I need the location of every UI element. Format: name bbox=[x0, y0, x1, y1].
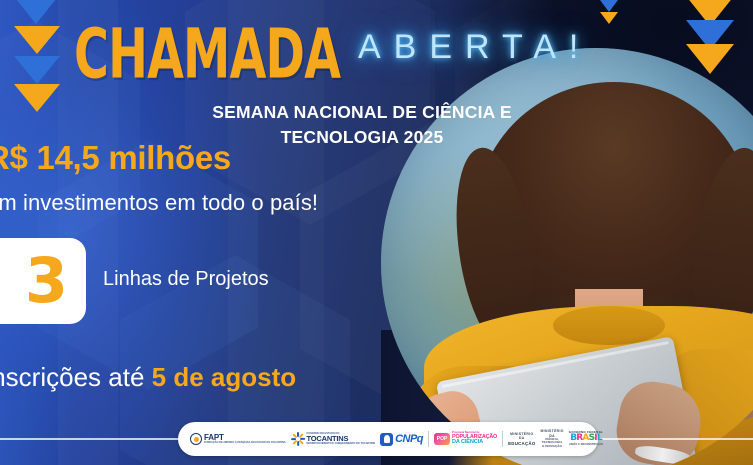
gf-underline: UNIÃO E RECONSTRUÇÃO bbox=[569, 444, 603, 447]
footer-divider bbox=[428, 431, 429, 447]
logo-tocantins: GOVERNO DO ESTADO DO TOCANTINS DESENVOLV… bbox=[291, 432, 376, 446]
deadline-date: 5 de agosto bbox=[152, 362, 296, 392]
event-subtitle: SEMANA NACIONAL DE CIÊNCIA E TECNOLOGIA … bbox=[197, 100, 527, 150]
mec-line1: MINISTÉRIO DA bbox=[508, 432, 535, 441]
footer-logo-bar: FAPT FUNDAÇÃO DE AMPARO À PESQUISA DO ES… bbox=[178, 422, 598, 456]
fapt-subtitle: FUNDAÇÃO DE AMPARO À PESQUISA DO ESTADO … bbox=[204, 442, 286, 445]
headline-chamada: CHAMADA bbox=[74, 14, 340, 94]
footer-divider bbox=[502, 431, 503, 447]
pop-badge-text: POP bbox=[437, 436, 448, 442]
project-lines-number: 3 bbox=[25, 250, 68, 312]
deadline-prefix: Inscrições até bbox=[0, 362, 144, 392]
logo-popularizacao: POP Programa Nacional de POPULARIZAÇÃO D… bbox=[434, 432, 497, 446]
fapt-icon bbox=[190, 433, 202, 445]
project-lines-label: Linhas de Projetos bbox=[103, 268, 269, 291]
cnpq-name: CNPq bbox=[395, 433, 423, 445]
logo-governo-federal: GOVERNO FEDERAL BRASIL UNIÃO E RECONSTRU… bbox=[569, 431, 603, 447]
campaign-banner: CHAMADA ABERTA! SEMANA NACIONAL DE CIÊNC… bbox=[0, 0, 753, 465]
project-lines-card: 3 bbox=[0, 238, 86, 324]
pop-line2: DA CIÊNCIA bbox=[452, 440, 497, 446]
tocantins-subtitle: DESENVOLVIMENTO E CONHECIMENTO DO TOCANT… bbox=[307, 443, 376, 446]
mec-line2: EDUCAÇÃO bbox=[508, 441, 535, 447]
pop-icon: POP bbox=[434, 433, 450, 445]
investment-caption: em investimentos em todo o país! bbox=[0, 190, 318, 216]
logo-ministerio-cti: MINISTÉRIO DA CIÊNCIA, TECNOLOGIA E INOV… bbox=[540, 429, 563, 448]
logo-cnpq: CNPq bbox=[380, 433, 423, 446]
headline-aberta: ABERTA! bbox=[358, 28, 591, 67]
logo-fapt: FAPT FUNDAÇÃO DE AMPARO À PESQUISA DO ES… bbox=[190, 433, 286, 445]
cnpq-icon bbox=[380, 433, 393, 446]
footer-rule-right bbox=[594, 438, 753, 440]
deadline-text: Inscrições até 5 de agosto bbox=[0, 362, 296, 393]
investment-amount: R$ 14,5 milhões bbox=[0, 139, 231, 177]
sun-icon bbox=[291, 432, 305, 446]
mcti-line3: E INOVAÇÃO bbox=[540, 445, 563, 449]
footer-rule-left bbox=[0, 438, 182, 440]
logo-ministerio-educacao: MINISTÉRIO DA EDUCAÇÃO bbox=[508, 432, 535, 446]
